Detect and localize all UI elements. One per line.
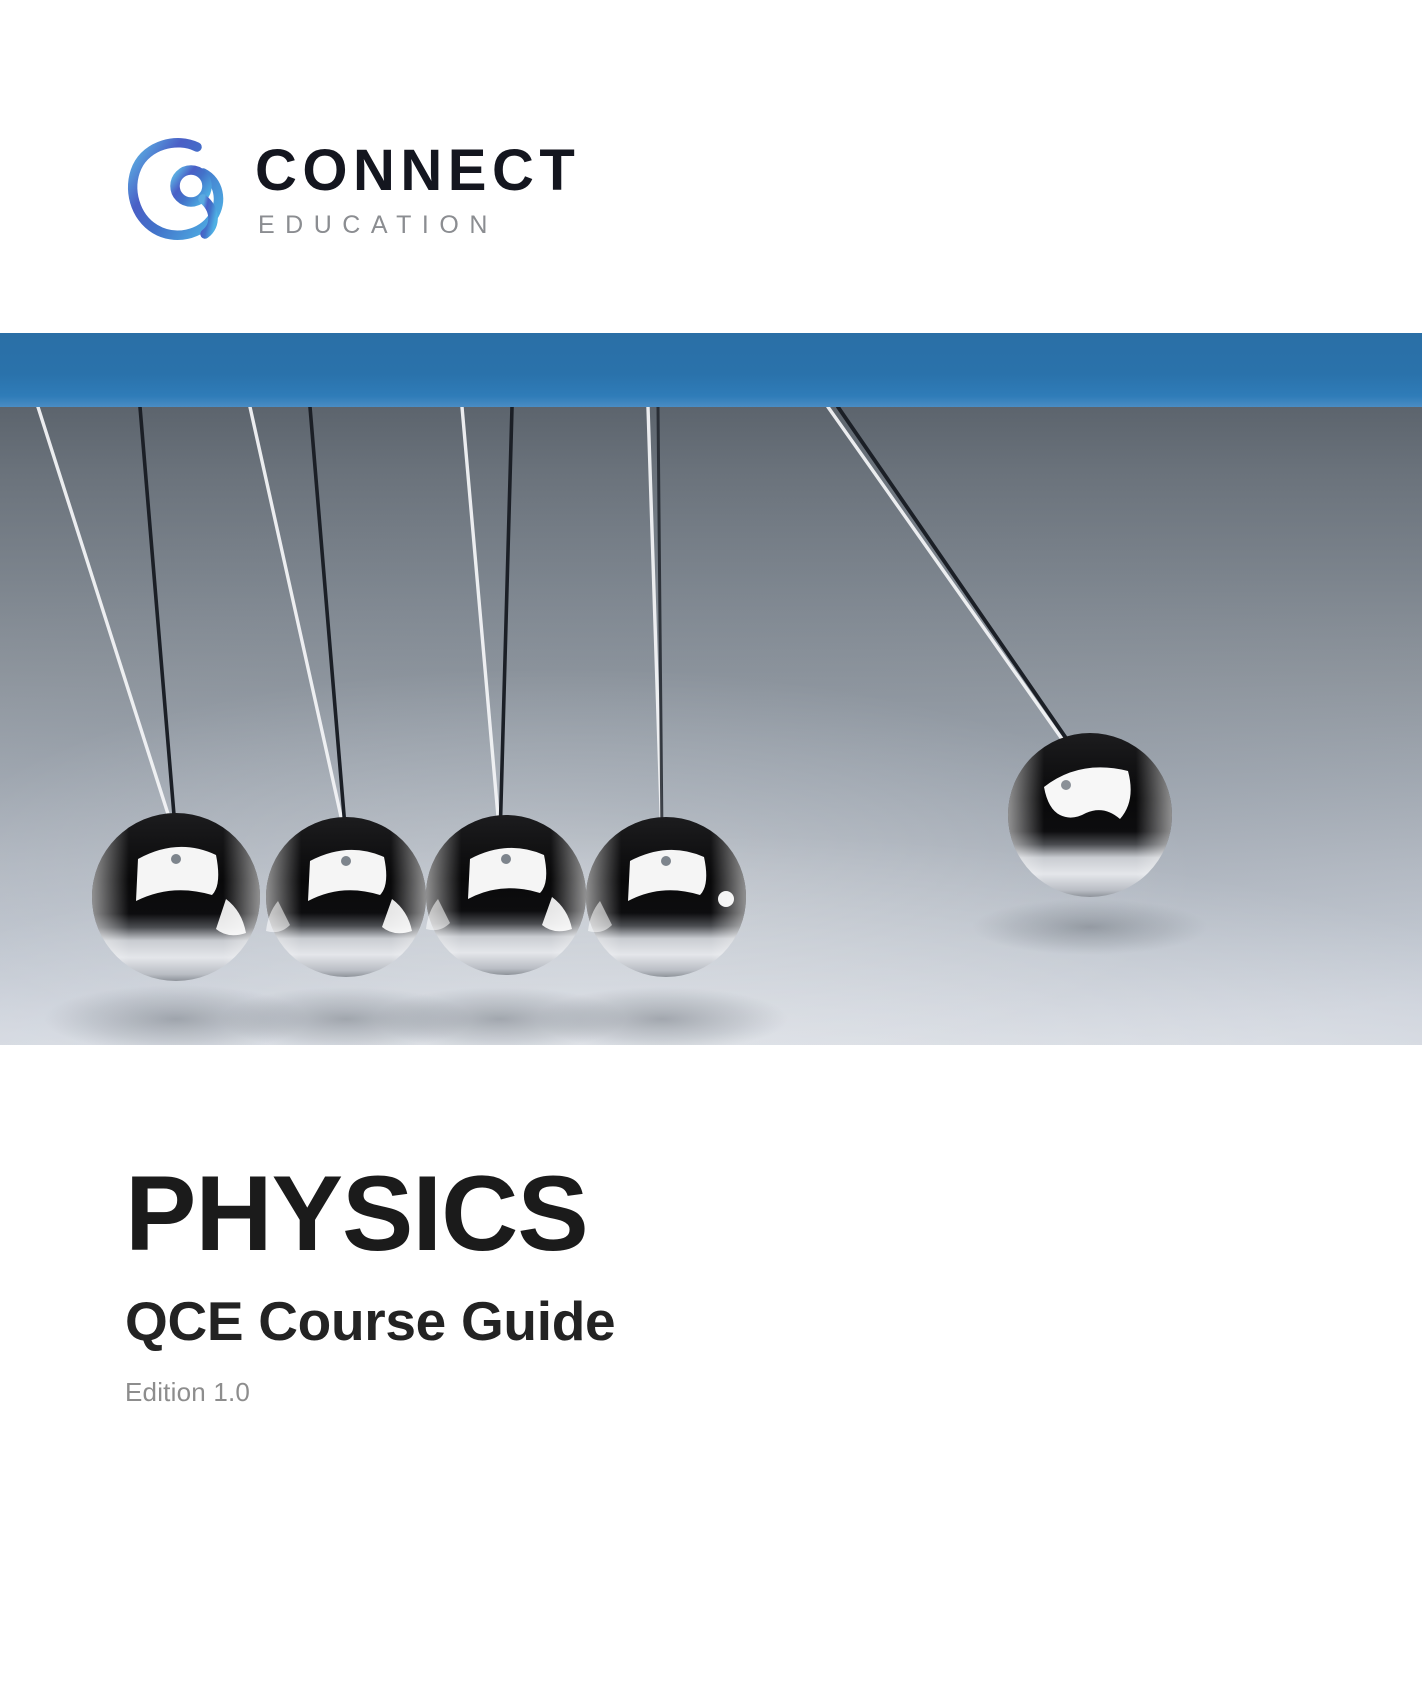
cover-page: CONNECT EDUCATION: [0, 0, 1422, 1681]
accent-divider-bar: [0, 333, 1422, 407]
cover-title-block: PHYSICS QCE Course Guide Edition 1.0: [125, 1157, 615, 1406]
brand-tagline: EDUCATION: [258, 213, 580, 238]
brand-logo[interactable]: CONNECT EDUCATION: [125, 133, 580, 243]
page-subtitle: QCE Course Guide: [125, 1291, 615, 1352]
edition-label: Edition 1.0: [125, 1378, 615, 1407]
connect-infinity-loop-icon: [125, 133, 233, 243]
newtons-cradle-photo: [0, 407, 1422, 1045]
brand-wordmark: CONNECT: [255, 142, 580, 200]
brand-logo-text: CONNECT EDUCATION: [255, 138, 580, 238]
page-title: PHYSICS: [125, 1157, 615, 1269]
